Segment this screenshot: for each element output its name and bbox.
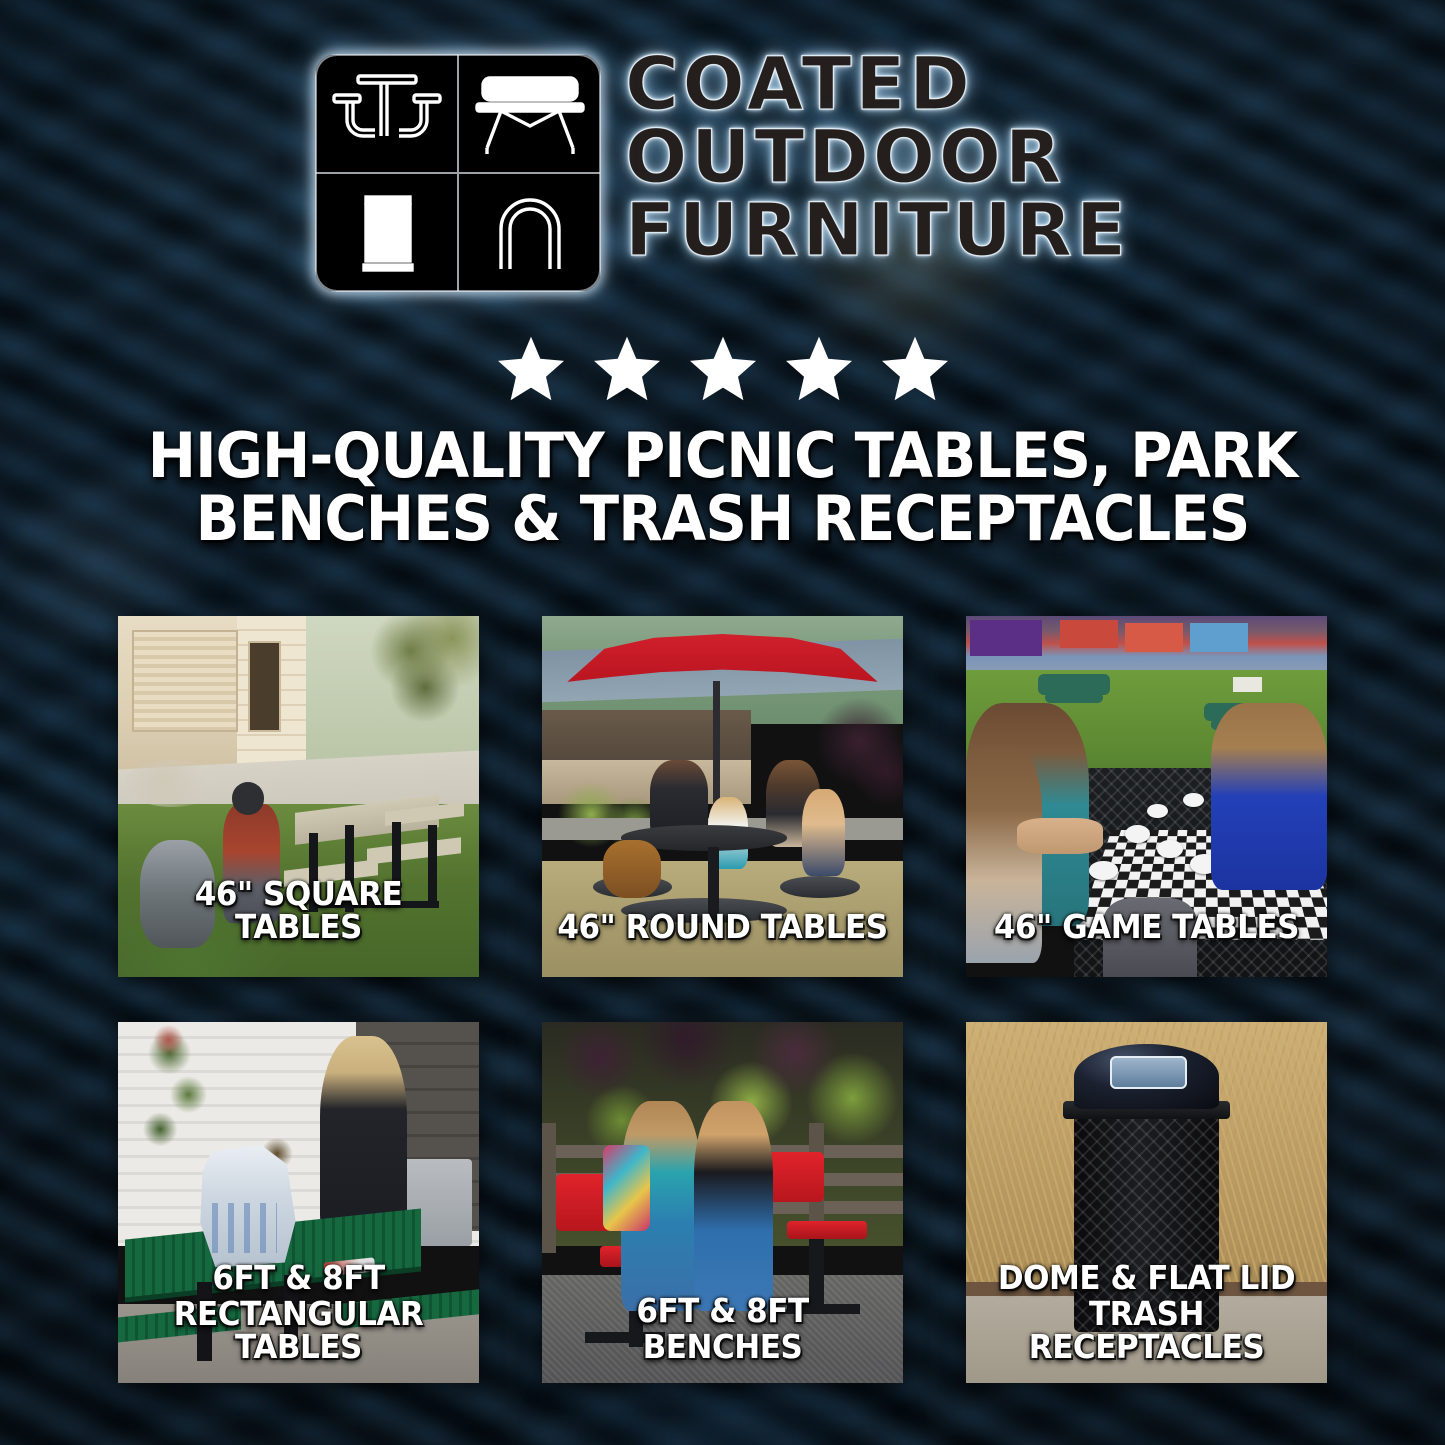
brand-wordmark: COATED OUTDOOR FURNITURE [625, 50, 1130, 266]
product-tile-round-tables[interactable]: 46" ROUND TABLES [542, 616, 903, 977]
flat-lid-trash-receptacle-icon [315, 173, 458, 292]
wordmark-line-3: FURNITURE [625, 196, 1130, 267]
star-icon [591, 333, 663, 405]
tile-caption-line-1: 6FT & 8FT [553, 1294, 892, 1327]
tile-caption: 46" GAME TABLES [977, 910, 1316, 943]
tile-caption: 6FT & 8FT RECTANGULAR TABLES [129, 1261, 468, 1363]
picnic-table-front-icon [315, 54, 458, 173]
picnic-table-side-icon [458, 54, 601, 173]
headline-line-1: HIGH-QUALITY PICNIC TABLES, PARK [51, 424, 1395, 487]
product-grid: 46" SQUARE TABLES [118, 616, 1327, 1383]
tile-caption-line-1: 6FT & 8FT [129, 1261, 468, 1294]
product-tile-square-tables[interactable]: 46" SQUARE TABLES [118, 616, 479, 977]
wordmark-line-2: OUTDOOR [625, 123, 1130, 194]
product-tile-trash-receptacles[interactable]: DOME & FLAT LID TRASH RECEPTACLES [966, 1022, 1327, 1383]
star-icon [687, 333, 759, 405]
star-icon [879, 333, 951, 405]
marketing-poster: COATED OUTDOOR FURNITURE HIGH-QUALITY PI… [0, 0, 1445, 1445]
tile-caption-line-2: TRASH RECEPTACLES [977, 1297, 1316, 1363]
dome-lid-trash-receptacle-icon [458, 173, 601, 292]
page-title: HIGH-QUALITY PICNIC TABLES, PARK BENCHES… [51, 424, 1395, 550]
tile-caption: 6FT & 8FT BENCHES [553, 1294, 892, 1363]
tile-caption-line-2: RECTANGULAR TABLES [129, 1297, 468, 1363]
star-icon [495, 333, 567, 405]
tile-caption: 46" ROUND TABLES [553, 910, 892, 943]
furniture-quad-logo [315, 54, 601, 292]
star-rating [0, 333, 1445, 405]
wordmark-line-1: COATED [625, 50, 1130, 121]
product-tile-game-tables[interactable]: 46" GAME TABLES [966, 616, 1327, 977]
tile-caption: DOME & FLAT LID TRASH RECEPTACLES [977, 1261, 1316, 1363]
headline-line-2: BENCHES & TRASH RECEPTACLES [51, 487, 1395, 550]
tile-caption: 46" SQUARE TABLES [129, 877, 468, 943]
brand-header: COATED OUTDOOR FURNITURE [0, 54, 1445, 292]
tile-caption-line-1: DOME & FLAT LID [977, 1261, 1316, 1294]
star-icon [783, 333, 855, 405]
product-tile-rectangular-tables[interactable]: 6FT & 8FT RECTANGULAR TABLES [118, 1022, 479, 1383]
product-tile-benches[interactable]: 6FT & 8FT BENCHES [542, 1022, 903, 1383]
tile-caption-line-2: BENCHES [553, 1330, 892, 1363]
